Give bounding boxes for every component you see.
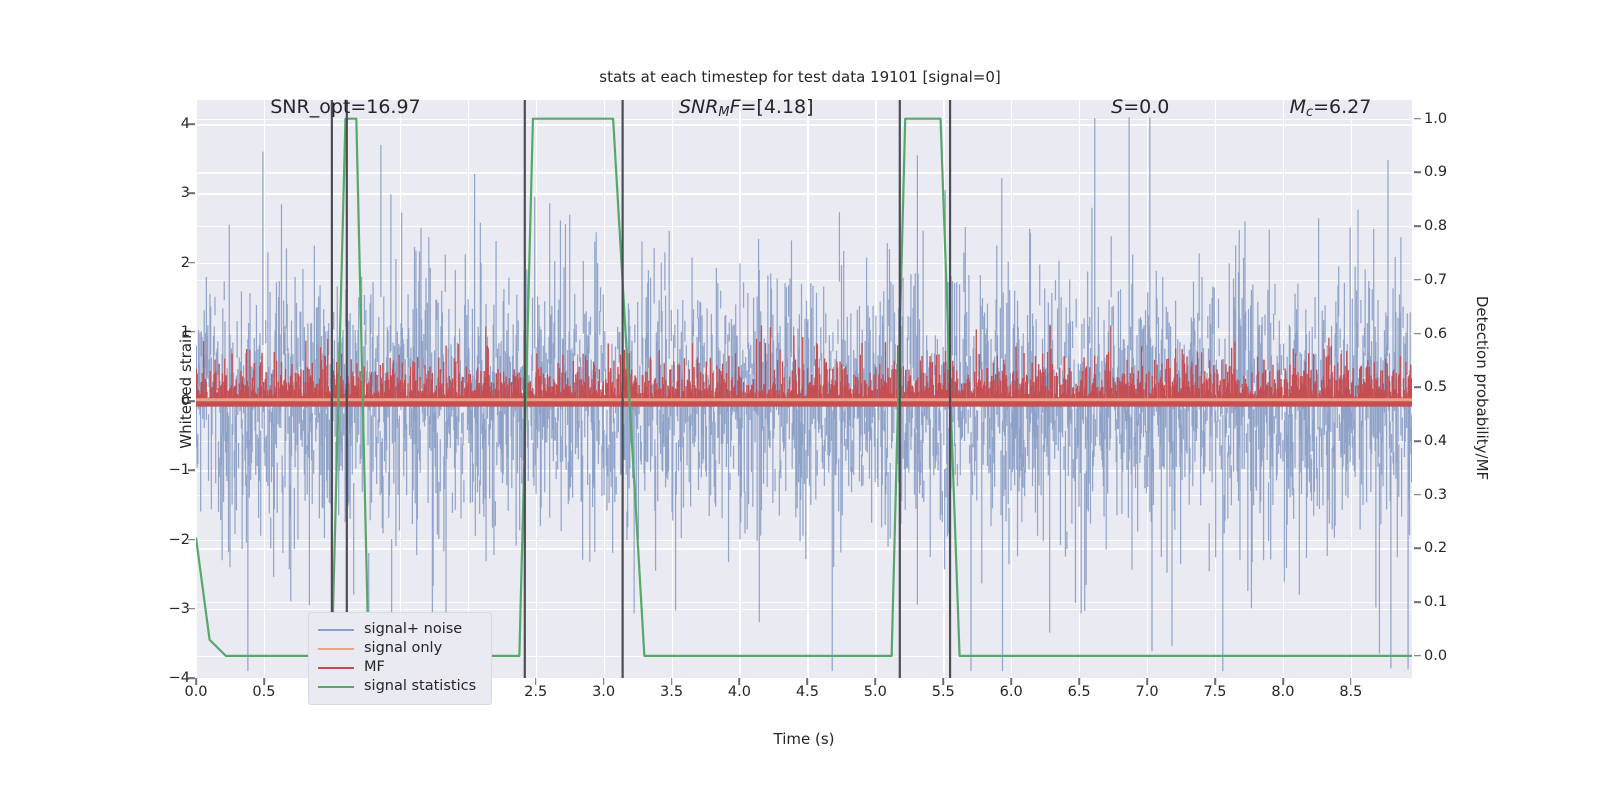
y-axis-right-tick-mark: [1414, 440, 1421, 442]
x-axis-tick-mark: [1282, 678, 1284, 685]
x-axis-tick-mark: [603, 678, 605, 685]
x-axis-tick-mark: [1214, 678, 1216, 685]
y-axis-right-tick-label: 0.2: [1424, 540, 1494, 556]
x-axis-tick-mark: [1146, 678, 1148, 685]
x-axis-tick-label: 3.0: [592, 684, 615, 700]
x-axis-tick-mark: [942, 678, 944, 685]
y-axis-left-tick-mark: [188, 677, 195, 679]
x-axis-tick-mark: [263, 678, 265, 685]
annotation-snr-mf-eq: =[4.18]: [741, 96, 814, 118]
annotation-snr-mf: SNRMF=[4.18]: [679, 96, 814, 120]
y-axis-left-tick-mark: [188, 193, 195, 195]
x-axis-tick-label: 4.0: [728, 684, 751, 700]
annotation-snr-mf-sub: M: [718, 105, 729, 120]
x-axis-tick-label: 0.5: [252, 684, 275, 700]
x-axis-tick-label: 5.5: [932, 684, 955, 700]
x-axis-tick-mark: [1350, 678, 1352, 685]
legend-swatch-icon: [318, 667, 354, 669]
series-svg: [196, 100, 1412, 678]
y-axis-left-tick-label: 4: [130, 116, 190, 132]
legend-item[interactable]: signal+ noise: [318, 620, 482, 639]
annotation-mc-label: M: [1290, 96, 1306, 118]
legend-item-label: signal only: [364, 641, 442, 656]
page-title: stats at each timestep for test data 191…: [0, 68, 1600, 86]
data-layer: [196, 100, 1412, 678]
x-axis-tick-mark: [807, 678, 809, 685]
x-axis-label: Time (s): [196, 730, 1412, 748]
figure-canvas: stats at each timestep for test data 191…: [0, 0, 1600, 800]
x-axis-tick-label: 6.0: [1000, 684, 1023, 700]
x-axis-tick-label: 3.5: [660, 684, 683, 700]
y-axis-right-tick-mark: [1414, 172, 1421, 174]
chart-legend: signal+ noisesignal onlyMFsignal statist…: [308, 612, 492, 705]
y-axis-right-tick-mark: [1414, 494, 1421, 496]
x-axis-tick-label: 6.5: [1068, 684, 1091, 700]
annotation-snr-opt-label: SNR_opt=: [270, 96, 366, 118]
annotation-s-eq: =0.0: [1123, 96, 1169, 118]
plot-axes: [196, 100, 1412, 678]
y-axis-right-tick-label: 0.1: [1424, 594, 1494, 610]
legend-item-label: MF: [364, 660, 385, 675]
y-axis-right-tick-mark: [1414, 225, 1421, 227]
y-axis-right-tick-label: 0.8: [1424, 218, 1494, 234]
y-axis-right-tick-mark: [1414, 386, 1421, 388]
annotation-chirp-mass: Mc=6.27: [1290, 96, 1372, 120]
legend-item-label: signal statistics: [364, 679, 476, 694]
annotation-snr-opt-value: 16.97: [366, 96, 420, 118]
y-axis-right-label: Detection probability/MF: [1473, 238, 1491, 538]
x-axis-tick-label: 7.0: [1136, 684, 1159, 700]
legend-swatch-icon: [318, 686, 354, 688]
y-axis-right-tick-mark: [1414, 333, 1421, 335]
x-axis-tick-mark: [535, 678, 537, 685]
y-axis-right-tick-label: 0.0: [1424, 648, 1494, 664]
x-axis-tick-label: 7.5: [1203, 684, 1226, 700]
x-axis-tick-mark: [1010, 678, 1012, 685]
annotation-mc-eq: =6.27: [1313, 96, 1371, 118]
y-axis-right-tick-mark: [1414, 279, 1421, 281]
annotation-mc-sub: c: [1306, 105, 1313, 120]
legend-swatch-icon: [318, 629, 354, 631]
y-axis-left-tick-mark: [188, 608, 195, 610]
x-axis-tick-label: 8.0: [1271, 684, 1294, 700]
y-axis-left-tick-label: 3: [130, 185, 190, 201]
y-axis-right-tick-label: 1.0: [1424, 111, 1494, 127]
y-axis-right-tick-mark: [1414, 601, 1421, 603]
y-axis-left-tick-label: −3: [130, 601, 190, 617]
annotation-s-value: S=0.0: [1111, 96, 1169, 118]
x-axis-tick-mark: [739, 678, 741, 685]
annotation-s-label: S: [1111, 96, 1123, 118]
y-axis-right-tick-mark: [1414, 655, 1421, 657]
legend-swatch-icon: [318, 648, 354, 650]
x-axis-tick-label: 2.5: [524, 684, 547, 700]
legend-item[interactable]: signal only: [318, 639, 482, 658]
annotation-snr-mf-lead: SNR: [679, 96, 718, 118]
legend-item-label: signal+ noise: [364, 622, 462, 637]
y-axis-right-tick-mark: [1414, 548, 1421, 550]
annotation-snr-opt: SNR_opt=16.97: [270, 96, 420, 118]
x-axis-tick-mark: [195, 678, 197, 685]
y-axis-left-tick-label: −4: [130, 670, 190, 686]
x-axis-tick-label: 0.0: [184, 684, 207, 700]
y-axis-left-tick-mark: [188, 123, 195, 125]
x-axis-tick-mark: [1078, 678, 1080, 685]
legend-item[interactable]: signal statistics: [318, 677, 482, 696]
y-axis-right-tick-mark: [1414, 118, 1421, 120]
x-axis-tick-label: 5.0: [864, 684, 887, 700]
y-axis-left-label: Whitened strain: [177, 239, 195, 539]
x-axis-tick-mark: [671, 678, 673, 685]
y-axis-right-tick-label: 0.9: [1424, 164, 1494, 180]
x-axis-tick-label: 4.5: [796, 684, 819, 700]
x-axis-tick-mark: [875, 678, 877, 685]
annotation-snr-mf-tail: F: [730, 96, 741, 118]
legend-item[interactable]: MF: [318, 658, 482, 677]
x-axis-tick-label: 8.5: [1339, 684, 1362, 700]
